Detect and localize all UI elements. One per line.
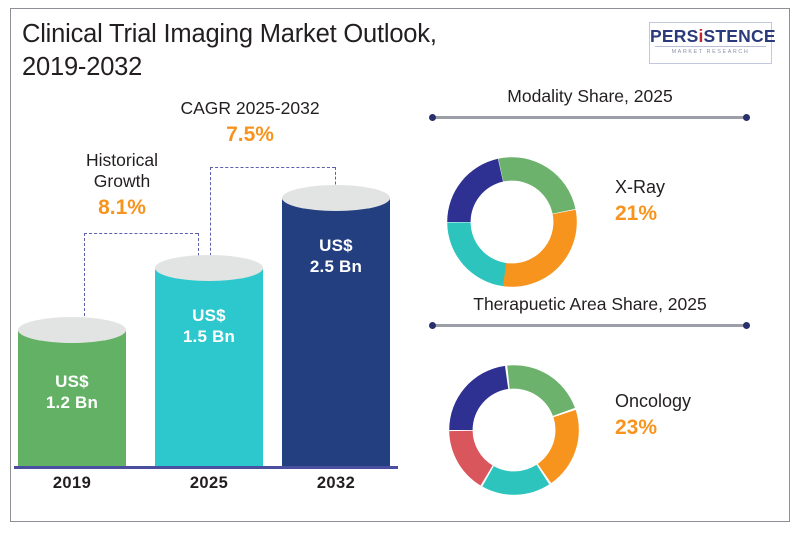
bar-2032-value-line-2: 2.5 Bn [282, 257, 390, 278]
modality-slice-xray [447, 159, 503, 222]
modality-slice-2 [498, 157, 575, 213]
modality-highlight-pct: 21% [615, 201, 665, 227]
modality-share-title: Modality Share, 2025 [420, 86, 760, 107]
therapeutic-highlight-label: Oncology 23% [615, 390, 691, 441]
x-axis-tick-2019: 2019 [12, 474, 132, 493]
bar-2032-value: US$ 2.5 Bn [282, 236, 390, 277]
modality-slice-3 [502, 210, 576, 287]
therapeutic-area-donut [424, 340, 604, 520]
bar-chart-panel: Historical Growth 8.1% CAGR 2025-2032 7.… [0, 0, 410, 514]
modality-slice-4 [447, 222, 506, 286]
x-axis-tick-2025: 2025 [149, 474, 269, 493]
bar-2025-value-line-1: US$ [155, 306, 263, 327]
modality-share-donut [422, 132, 602, 312]
modality-highlight-name: X-Ray [615, 177, 665, 197]
bar-2019-value: US$ 1.2 Bn [18, 372, 126, 413]
bar-2019-value-line-1: US$ [18, 372, 126, 393]
bar-2025-value: US$ 1.5 Bn [155, 306, 263, 347]
infographic-root: Clinical Trial Imaging Market Outlook, 2… [0, 0, 802, 534]
donut-charts-panel: Modality Share, 2025 X-Ray 21% [410, 0, 780, 514]
modality-share-donut-svg [422, 132, 602, 312]
therapeutic-slice-oncology [449, 366, 508, 430]
therapeutic-slice-5 [449, 431, 492, 486]
therapeutic-slice-4 [482, 465, 549, 495]
historical-growth-value: 8.1% [52, 195, 192, 220]
historical-growth-label-line-1: Historical [52, 150, 192, 171]
bar-2025-cap [155, 255, 263, 281]
bar-chart-axis [14, 466, 398, 469]
cagr-bracket-top [210, 167, 335, 168]
bar-2019-cap [18, 317, 126, 343]
historical-bracket-top [84, 233, 198, 234]
bar-2032-value-line-1: US$ [282, 236, 390, 257]
therapeutic-slice-2 [507, 365, 575, 416]
bar-2032: US$ 2.5 Bn [282, 198, 390, 468]
historical-growth-label-line-2: Growth [52, 171, 192, 192]
bar-2019-value-line-2: 1.2 Bn [18, 393, 126, 414]
therapeutic-area-divider [432, 324, 747, 327]
historical-growth-callout: Historical Growth 8.1% [52, 150, 192, 220]
modality-share-divider [432, 116, 747, 119]
cagr-callout: CAGR 2025-2032 7.5% [130, 98, 370, 147]
therapeutic-area-donut-svg [424, 340, 604, 520]
therapeutic-highlight-pct: 23% [615, 415, 691, 441]
modality-highlight-label: X-Ray 21% [615, 176, 665, 227]
therapeutic-slice-3 [538, 410, 579, 483]
therapeutic-area-title: Therapuetic Area Share, 2025 [420, 294, 760, 315]
bar-2032-cap [282, 185, 390, 211]
cagr-label: CAGR 2025-2032 [130, 98, 370, 119]
bar-2025-value-line-2: 1.5 Bn [155, 327, 263, 348]
cagr-value: 7.5% [130, 122, 370, 147]
bar-2019: US$ 1.2 Bn [18, 330, 126, 468]
x-axis-tick-2032: 2032 [276, 474, 396, 493]
therapeutic-highlight-name: Oncology [615, 391, 691, 411]
bar-2025: US$ 1.5 Bn [155, 268, 263, 468]
